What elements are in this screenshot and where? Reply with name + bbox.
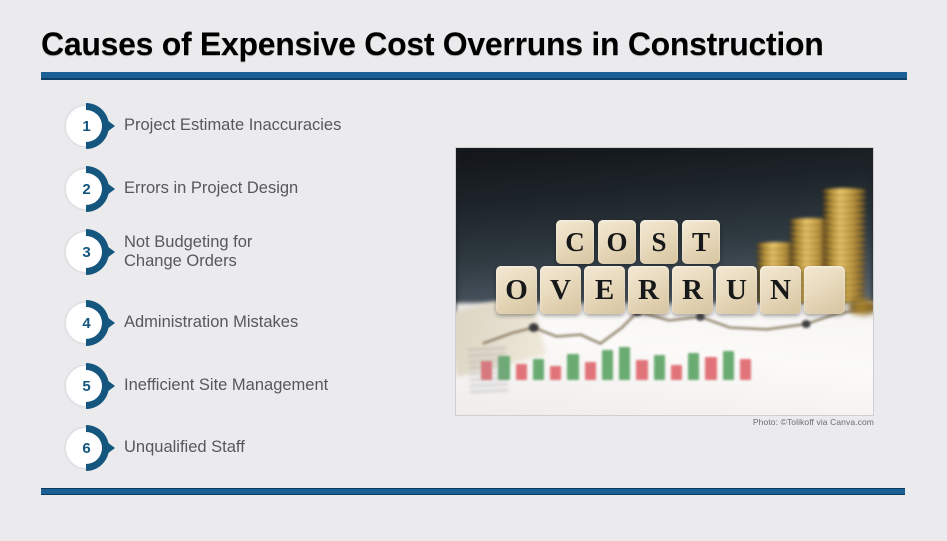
blocks-row-overrun: O V E R R U N [496, 266, 848, 314]
letter-block: C [556, 220, 594, 264]
cost-overrun-photo: C O S T O V E R R U N [455, 147, 874, 416]
list-item[interactable]: 3 Not Budgeting for Change Orders [64, 226, 252, 278]
list-item[interactable]: 6 Unqualified Staff [64, 422, 245, 474]
letter-block: V [540, 266, 581, 314]
list-item-label: Administration Mistakes [124, 313, 298, 332]
letter-block: S [640, 220, 678, 264]
letter-block: O [598, 220, 636, 264]
title-block: Causes of Expensive Cost Overruns in Con… [41, 27, 907, 63]
list-item[interactable]: 4 Administration Mistakes [64, 297, 298, 349]
number-marker-icon: 4 [64, 297, 116, 349]
list-item[interactable]: 5 Inefficient Site Management [64, 360, 328, 412]
title-divider [41, 72, 907, 80]
marker-number: 4 [64, 297, 108, 349]
photo-credit: Photo: ©Tolikoff via Canva.com [455, 417, 874, 427]
letter-block: T [682, 220, 720, 264]
letter-block: R [672, 266, 713, 314]
list-item-label: Inefficient Site Management [124, 376, 328, 395]
letter-block: E [584, 266, 625, 314]
number-marker-icon: 2 [64, 163, 116, 215]
number-marker-icon: 1 [64, 100, 116, 152]
letter-block: O [496, 266, 537, 314]
list-item[interactable]: 1 Project Estimate Inaccuracies [64, 100, 341, 152]
blocks-row-cost: C O S T [556, 220, 724, 264]
number-marker-icon: 3 [64, 226, 116, 278]
number-marker-icon: 6 [64, 422, 116, 474]
list-item-label: Not Budgeting for Change Orders [124, 233, 252, 272]
letter-block: R [628, 266, 669, 314]
marker-number: 2 [64, 163, 108, 215]
bottom-divider [41, 488, 905, 495]
coin-loose [848, 299, 873, 315]
list-item-label: Project Estimate Inaccuracies [124, 116, 341, 135]
photo-chart-table [467, 347, 507, 394]
marker-number: 6 [64, 422, 108, 474]
marker-number: 1 [64, 100, 108, 152]
marker-number: 3 [64, 226, 108, 278]
number-marker-icon: 5 [64, 360, 116, 412]
letter-block: U [716, 266, 757, 314]
photo-candlesticks [481, 346, 856, 381]
page-title: Causes of Expensive Cost Overruns in Con… [41, 27, 894, 63]
list-item-label: Unqualified Staff [124, 438, 245, 457]
letter-block: N [760, 266, 801, 314]
marker-number: 5 [64, 360, 108, 412]
list-item[interactable]: 2 Errors in Project Design [64, 163, 298, 215]
list-item-label: Errors in Project Design [124, 179, 298, 198]
letter-block-blank [804, 266, 845, 314]
